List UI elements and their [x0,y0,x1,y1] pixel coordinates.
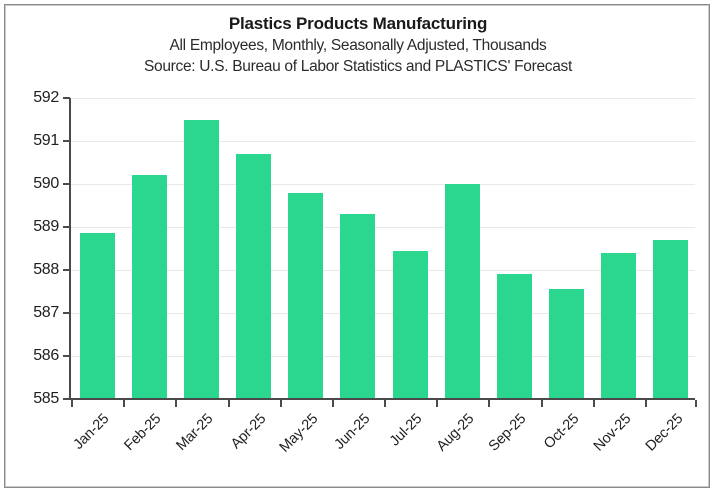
y-tick-label: 592 [15,89,59,107]
y-tick-label: 590 [15,175,59,193]
plot-area: 585586587588589590591592 Jan-25Feb-25Mar… [69,98,695,399]
y-tick-label: 589 [15,218,59,236]
x-tick-mark [695,400,697,407]
bar[interactable] [80,233,115,399]
y-tick-label: 588 [15,261,59,279]
x-tick-mark [123,400,125,407]
x-tick-mark [384,400,386,407]
x-tick-label: May-25 [273,411,321,459]
y-tick-mark [63,355,70,357]
bar[interactable] [549,289,584,399]
x-tick-label: Mar-25 [169,411,217,459]
gridline [69,141,695,142]
bar[interactable] [445,184,480,399]
x-tick-label: Jun-25 [325,411,373,459]
bar[interactable] [236,154,271,399]
page-title: Plastics Products Manufacturing [5,13,711,35]
x-tick-mark [280,400,282,407]
y-tick-mark [63,140,70,142]
bar[interactable] [288,193,323,399]
y-tick-mark [63,226,70,228]
y-tick-mark [63,269,70,271]
y-tick-label: 591 [15,132,59,150]
bar[interactable] [653,240,688,399]
x-tick-label: Aug-25 [429,411,477,459]
x-tick-mark [645,400,647,407]
x-tick-label: Sep-25 [482,411,530,459]
bar[interactable] [340,214,375,399]
x-tick-mark [436,400,438,407]
x-tick-label: Nov-25 [586,411,634,459]
x-tick-label: Jul-25 [377,411,425,459]
x-tick-mark [175,400,177,407]
x-tick-label: Feb-25 [116,411,164,459]
x-axis-line [69,398,695,400]
x-tick-mark [541,400,543,407]
x-tick-label: Jan-25 [64,411,112,459]
title-block: Plastics Products Manufacturing All Empl… [5,13,711,77]
chart-subtitle-series: All Employees, Monthly, Seasonally Adjus… [5,35,711,56]
x-tick-mark [332,400,334,407]
x-tick-mark [488,400,490,407]
y-tick-label: 585 [15,390,59,408]
y-tick-mark [63,398,70,400]
y-tick-label: 587 [15,304,59,322]
bar[interactable] [132,175,167,399]
gridline [69,98,695,99]
x-tick-label: Dec-25 [638,411,686,459]
x-tick-label: Oct-25 [534,411,582,459]
bar[interactable] [393,251,428,399]
x-tick-mark [71,400,73,407]
bar[interactable] [601,253,636,399]
x-tick-label: Apr-25 [221,411,269,459]
y-tick-label: 586 [15,347,59,365]
x-tick-mark [228,400,230,407]
bar[interactable] [497,274,532,399]
y-tick-mark [63,183,70,185]
y-tick-mark [63,312,70,314]
chart-subtitle-source: Source: U.S. Bureau of Labor Statistics … [5,56,711,77]
bar[interactable] [184,120,219,400]
chart-frame: Plastics Products Manufacturing All Empl… [4,4,710,488]
x-tick-mark [593,400,595,407]
y-tick-mark [63,97,70,99]
